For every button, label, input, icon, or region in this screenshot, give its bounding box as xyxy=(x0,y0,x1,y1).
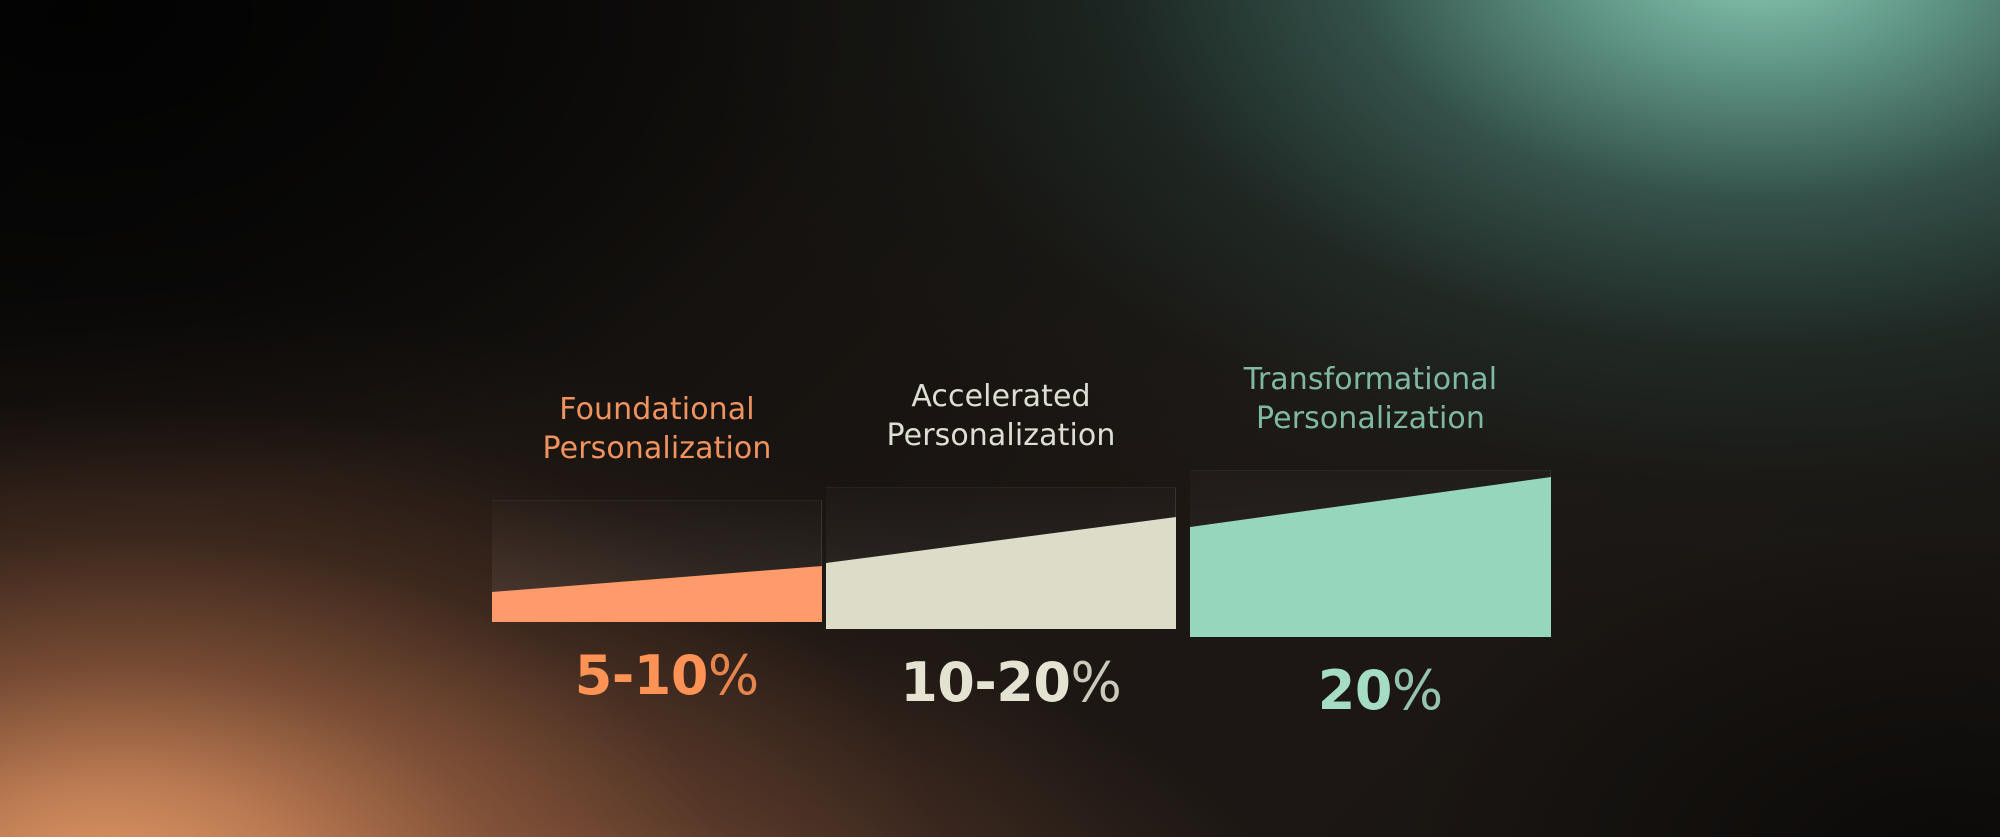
ramp-fill-accelerated xyxy=(826,517,1176,629)
stage-value-number-foundational: 5-10 xyxy=(575,644,708,707)
stage-value-unit-accelerated: % xyxy=(1070,651,1121,714)
stage-value-transformational: 20% xyxy=(1318,659,1443,722)
ramp-shape-foundational xyxy=(492,564,822,622)
maturity-bar-chart: FoundationalPersonalization5-10%Accelera… xyxy=(0,0,2000,837)
stage-panel-accelerated[interactable] xyxy=(826,487,1176,629)
stage-value-number-accelerated: 10-20 xyxy=(900,651,1070,714)
stage-value-foundational: 5-10% xyxy=(575,644,759,707)
stage-label-line1-foundational: Foundational xyxy=(543,390,772,429)
stage-label-line2-accelerated: Personalization xyxy=(887,416,1116,455)
stage-label-transformational: TransformationalPersonalization xyxy=(1244,360,1497,438)
ramp-fill-transformational xyxy=(1190,477,1551,637)
stage-panel-foundational[interactable] xyxy=(492,500,822,622)
stage-value-number-transformational: 20 xyxy=(1318,659,1392,722)
stage-label-line1-transformational: Transformational xyxy=(1244,360,1497,399)
stage-label-line2-transformational: Personalization xyxy=(1244,399,1497,438)
ramp-shape-accelerated xyxy=(826,515,1176,629)
slide-canvas: FoundationalPersonalization5-10%Accelera… xyxy=(0,0,2000,837)
stage-label-line1-accelerated: Accelerated xyxy=(887,377,1116,416)
stage-value-unit-transformational: % xyxy=(1392,659,1443,722)
stage-value-accelerated: 10-20% xyxy=(900,651,1122,714)
ramp-shape-transformational xyxy=(1190,475,1551,637)
stage-label-line2-foundational: Personalization xyxy=(543,429,772,468)
stage-panel-transformational[interactable] xyxy=(1190,470,1551,637)
ramp-fill-foundational xyxy=(492,566,822,622)
stage-label-accelerated: AcceleratedPersonalization xyxy=(887,377,1116,455)
stage-label-foundational: FoundationalPersonalization xyxy=(543,390,772,468)
stage-value-unit-foundational: % xyxy=(708,644,759,707)
